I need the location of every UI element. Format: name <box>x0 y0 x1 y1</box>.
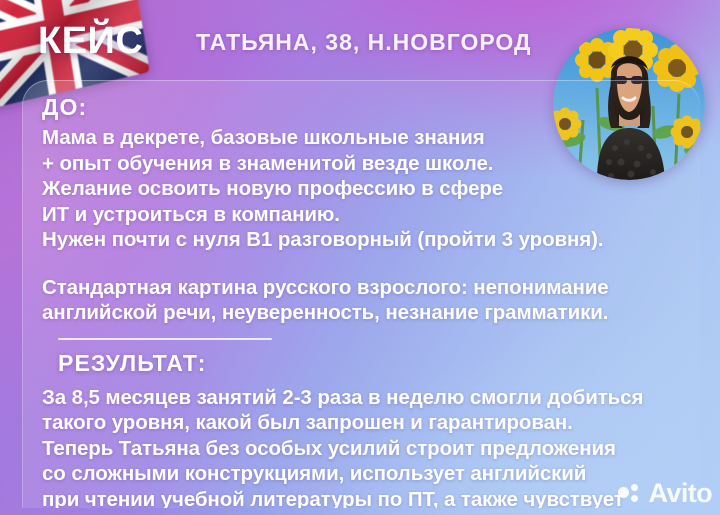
before-line: + опыт обучения в знаменитой везде школе… <box>42 151 678 177</box>
before-line: Желание освоить новую профессию в сфере <box>42 176 678 202</box>
result-line: За 8,5 месяцев занятий 2-3 раза в неделю… <box>42 385 678 411</box>
result-line: такого уровня, какой был запрошен и гара… <box>42 410 678 436</box>
content-card: ДО: Мама в декрете, базовые школьные зна… <box>22 80 700 508</box>
before-note-paragraph: Стандартная картина русского взрослого: … <box>42 275 678 326</box>
case-subject: ТАТЬЯНА, 38, Н.НОВГОРОД <box>196 25 531 59</box>
result-paragraph: За 8,5 месяцев занятий 2-3 раза в неделю… <box>42 385 678 509</box>
avito-wordmark: Avito <box>649 480 713 507</box>
before-note-line: английской речи, неуверенность, незнание… <box>42 300 678 326</box>
result-section-title: РЕЗУЛЬТАТ: <box>58 350 678 377</box>
before-line: Нужен почти с нуля B1 разговорный (пройт… <box>42 227 678 253</box>
section-divider <box>58 338 272 340</box>
before-note-line: Стандартная картина русского взрослого: … <box>42 275 678 301</box>
avito-logo-icon: Avito <box>618 480 713 507</box>
avito-dots-icon <box>618 483 644 505</box>
before-line: ИТ и устроиться в компанию. <box>42 202 678 228</box>
before-paragraph: Мама в декрете, базовые школьные знания … <box>42 125 678 253</box>
before-section-title: ДО: <box>42 94 678 121</box>
result-line: Теперь Татьяна без особых усилий строит … <box>42 436 678 462</box>
before-line: Мама в декрете, базовые школьные знания <box>42 125 678 151</box>
result-line: при чтении учебной литературы по ПТ, а т… <box>42 487 678 509</box>
result-line: со сложными конструкциями, использует ан… <box>42 461 678 487</box>
case-study-poster: КЕЙС ТАТЬЯНА, 38, Н.НОВГОРОД <box>0 0 720 515</box>
case-label: КЕЙС <box>38 18 143 64</box>
